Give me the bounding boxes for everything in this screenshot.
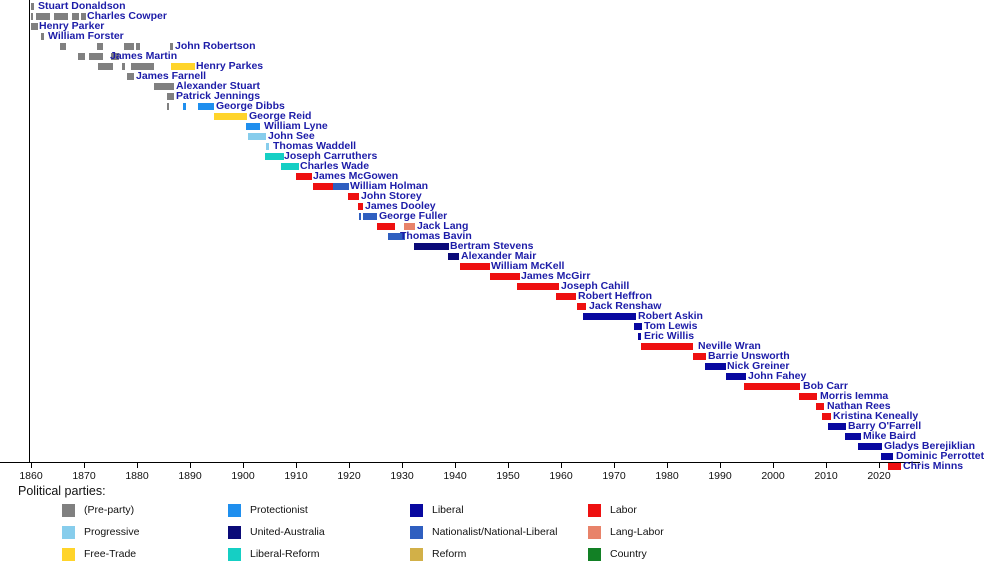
legend-color-swatch <box>410 526 423 539</box>
term-bar-united-australia[interactable] <box>414 243 449 250</box>
term-bar-labor[interactable] <box>556 293 576 300</box>
term-bar-liberal[interactable] <box>845 433 861 440</box>
term-bar-liberal-reform[interactable] <box>281 163 299 170</box>
x-axis-tick-label: 1880 <box>125 470 148 482</box>
term-bar-labor[interactable] <box>744 383 800 390</box>
timeline-row[interactable]: Robert Heffron <box>0 292 1000 302</box>
term-bar-pre-party[interactable] <box>31 23 38 30</box>
timeline-row[interactable]: Nick Greiner <box>0 362 1000 372</box>
timeline-row[interactable]: Thomas Waddell <box>0 142 1000 152</box>
timeline-row[interactable]: William McKell <box>0 262 1000 272</box>
term-bar-labor[interactable] <box>693 353 706 360</box>
term-bar-nationalist-national-liberal[interactable] <box>359 213 361 220</box>
legend-label: Free-Trade <box>84 547 136 561</box>
legend-label: United-Australia <box>250 525 325 539</box>
legend-label: Country <box>610 547 647 561</box>
term-bar-labor[interactable] <box>348 193 359 200</box>
term-bar-pre-party[interactable] <box>60 43 66 50</box>
term-bar-labor[interactable] <box>313 183 333 190</box>
x-axis-tick-label: 1900 <box>231 470 254 482</box>
premier-name-label: John Robertson <box>175 41 256 51</box>
x-axis-tick <box>243 462 244 468</box>
x-axis-tick-label: 1870 <box>72 470 95 482</box>
x-axis-tick-label: 1860 <box>19 470 42 482</box>
term-bar-pre-party[interactable] <box>154 83 174 90</box>
legend: Political parties: (Pre-party)Progressiv… <box>0 484 1000 553</box>
x-axis-tick-label: 1970 <box>602 470 625 482</box>
timeline-row[interactable]: George Dibbs <box>0 102 1000 112</box>
term-bar-liberal[interactable] <box>726 373 746 380</box>
legend-color-swatch <box>228 526 241 539</box>
term-bar-progressive[interactable] <box>248 133 266 140</box>
x-axis-tick-label: 2010 <box>814 470 837 482</box>
premier-name-label: James Martin <box>110 51 177 61</box>
timeline-row[interactable]: Charles Cowper <box>0 12 1000 22</box>
term-bar-liberal[interactable] <box>858 443 882 450</box>
legend-label: Reform <box>432 547 466 561</box>
term-bar-liberal[interactable] <box>638 333 641 340</box>
timeline-row[interactable]: Tom Lewis <box>0 322 1000 332</box>
timeline-row[interactable]: William Lyne <box>0 122 1000 132</box>
x-axis-tick <box>190 462 191 468</box>
timeline-row[interactable]: Joseph Carruthers <box>0 152 1000 162</box>
timeline-row[interactable]: James Dooley <box>0 202 1000 212</box>
term-bar-protectionist[interactable] <box>183 103 186 110</box>
term-bar-protectionist[interactable] <box>198 103 214 110</box>
timeline-row[interactable]: Barrie Unsworth <box>0 352 1000 362</box>
legend-label: (Pre-party) <box>84 503 134 517</box>
legend-label: Lang-Labor <box>610 525 664 539</box>
x-axis-tick-label: 1950 <box>496 470 519 482</box>
timeline-row[interactable]: James Farnell <box>0 72 1000 82</box>
x-axis-tick-label: 2000 <box>761 470 784 482</box>
x-axis-tick <box>508 462 509 468</box>
term-bar-liberal[interactable] <box>634 323 642 330</box>
x-axis-tick <box>455 462 456 468</box>
term-bar-pre-party[interactable] <box>170 43 173 50</box>
legend-color-swatch <box>62 504 75 517</box>
legend-label: Protectionist <box>250 503 308 517</box>
timeline-row[interactable]: Eric Willis <box>0 332 1000 342</box>
premier-name-label: William Forster <box>48 31 124 41</box>
legend-title: Political parties: <box>18 484 106 498</box>
timeline-row[interactable]: John Storey <box>0 192 1000 202</box>
timeline-row[interactable]: Jack Lang <box>0 222 1000 232</box>
premier-name-label: Chris Minns <box>903 461 963 471</box>
legend-color-swatch <box>588 526 601 539</box>
term-bar-free-trade[interactable] <box>171 63 195 70</box>
term-bar-lang-labor[interactable] <box>404 223 415 230</box>
legend-label: Progressive <box>84 525 139 539</box>
x-axis-tick-label: 1990 <box>708 470 731 482</box>
x-axis-tick-label: 1910 <box>284 470 307 482</box>
term-bar-liberal-reform[interactable] <box>265 153 284 160</box>
x-axis-tick <box>720 462 721 468</box>
timeline-row[interactable]: Neville Wran <box>0 342 1000 352</box>
term-bar-labor[interactable] <box>377 223 395 230</box>
legend-color-swatch <box>588 548 601 561</box>
timeline-row[interactable]: Dominic Perrottet <box>0 452 1000 462</box>
timeline-row[interactable]: Barry O'Farrell <box>0 422 1000 432</box>
timeline-row[interactable]: Robert Askin <box>0 312 1000 322</box>
timeline-row[interactable]: Henry Parker <box>0 22 1000 32</box>
timeline-row[interactable]: Joseph Cahill <box>0 282 1000 292</box>
premier-name-label: Henry Parkes <box>196 61 263 71</box>
x-axis-tick-label: 1980 <box>655 470 678 482</box>
term-bar-pre-party[interactable] <box>167 103 169 110</box>
term-bar-pre-party[interactable] <box>36 13 50 20</box>
timeline-row[interactable]: Alexander Stuart <box>0 82 1000 92</box>
term-bar-pre-party[interactable] <box>78 53 85 60</box>
term-bar-labor[interactable] <box>358 203 363 210</box>
term-bar-pre-party[interactable] <box>131 63 154 70</box>
timeline-row[interactable]: Mike Baird <box>0 432 1000 442</box>
premiers-timeline-chart: Stuart DonaldsonCharles CowperHenry Park… <box>0 0 1000 470</box>
term-bar-labor[interactable] <box>577 303 586 310</box>
term-bar-labor[interactable] <box>799 393 817 400</box>
timeline-row[interactable]: Jack Renshaw <box>0 302 1000 312</box>
x-axis-tick <box>31 462 32 468</box>
legend-color-swatch <box>410 548 423 561</box>
x-axis-tick <box>879 462 880 468</box>
term-bar-labor[interactable] <box>822 413 831 420</box>
term-bar-progressive[interactable] <box>266 143 269 150</box>
timeline-row[interactable]: George Fuller <box>0 212 1000 222</box>
timeline-row[interactable]: William Holman <box>0 182 1000 192</box>
timeline-row[interactable]: James McGirr <box>0 272 1000 282</box>
legend-color-swatch <box>410 504 423 517</box>
legend-color-swatch <box>62 526 75 539</box>
x-axis-tick-label: 1890 <box>178 470 201 482</box>
term-bar-nationalist-national-liberal[interactable] <box>363 213 377 220</box>
timeline-row[interactable]: James Martin <box>0 52 1000 62</box>
x-axis-tick <box>137 462 138 468</box>
x-axis-tick-label: 1960 <box>549 470 572 482</box>
x-axis-tick <box>561 462 562 468</box>
term-bar-pre-party[interactable] <box>31 3 34 10</box>
term-bar-liberal[interactable] <box>881 453 893 460</box>
timeline-row[interactable]: Gladys Berejiklian <box>0 442 1000 452</box>
term-bar-pre-party[interactable] <box>31 13 33 20</box>
term-bar-labor[interactable] <box>641 343 693 350</box>
term-bar-pre-party[interactable] <box>41 33 44 40</box>
legend-color-swatch <box>588 504 601 517</box>
legend-label: Liberal-Reform <box>250 547 319 561</box>
term-bar-pre-party[interactable] <box>81 13 86 20</box>
term-bar-pre-party[interactable] <box>72 13 79 20</box>
term-bar-labor[interactable] <box>816 403 824 410</box>
legend-color-swatch <box>228 548 241 561</box>
x-axis-tick-label: 1940 <box>443 470 466 482</box>
premier-name-label: John Fahey <box>748 371 806 381</box>
term-bar-labor[interactable] <box>460 263 490 270</box>
term-bar-labor[interactable] <box>888 463 901 470</box>
term-bar-free-trade[interactable] <box>214 113 247 120</box>
legend-color-swatch <box>228 504 241 517</box>
x-axis-tick-label: 1930 <box>390 470 413 482</box>
timeline-row[interactable]: John See <box>0 132 1000 142</box>
timeline-row[interactable]: James McGowen <box>0 172 1000 182</box>
term-bar-nationalist-national-liberal[interactable] <box>333 183 349 190</box>
x-axis-tick <box>402 462 403 468</box>
x-axis-tick <box>296 462 297 468</box>
term-bar-pre-party[interactable] <box>89 53 103 60</box>
term-bar-labor[interactable] <box>296 173 312 180</box>
premier-name-label: Eric Willis <box>644 331 694 341</box>
term-bar-liberal[interactable] <box>583 313 636 320</box>
term-bar-protectionist[interactable] <box>246 123 260 130</box>
term-bar-pre-party[interactable] <box>167 93 174 100</box>
x-axis-tick <box>349 462 350 468</box>
timeline-row[interactable]: George Reid <box>0 112 1000 122</box>
term-bar-pre-party[interactable] <box>97 43 103 50</box>
term-bar-pre-party[interactable] <box>122 63 125 70</box>
x-axis-tick-label: 2020 <box>867 470 890 482</box>
legend-label: Nationalist/National-Liberal <box>432 525 557 539</box>
legend-color-swatch <box>62 548 75 561</box>
term-bar-pre-party[interactable] <box>98 63 113 70</box>
timeline-row[interactable]: William Forster <box>0 32 1000 42</box>
term-bar-pre-party[interactable] <box>54 13 68 20</box>
timeline-row[interactable]: Charles Wade <box>0 162 1000 172</box>
term-bar-labor[interactable] <box>490 273 520 280</box>
term-bar-liberal[interactable] <box>705 363 726 370</box>
term-bar-united-australia[interactable] <box>448 253 459 260</box>
term-bar-labor[interactable] <box>517 283 559 290</box>
legend-label: Labor <box>610 503 637 517</box>
term-bar-pre-party[interactable] <box>136 43 140 50</box>
x-axis-tick <box>773 462 774 468</box>
timeline-row[interactable]: John Fahey <box>0 372 1000 382</box>
timeline-row[interactable]: Patrick Jennings <box>0 92 1000 102</box>
legend-label: Liberal <box>432 503 464 517</box>
x-axis-tick <box>826 462 827 468</box>
x-axis-tick <box>614 462 615 468</box>
term-bar-pre-party[interactable] <box>127 73 134 80</box>
x-axis-tick <box>667 462 668 468</box>
x-axis-tick <box>84 462 85 468</box>
term-bar-pre-party[interactable] <box>124 43 134 50</box>
x-axis-tick-label: 1920 <box>337 470 360 482</box>
term-bar-liberal[interactable] <box>828 423 846 430</box>
